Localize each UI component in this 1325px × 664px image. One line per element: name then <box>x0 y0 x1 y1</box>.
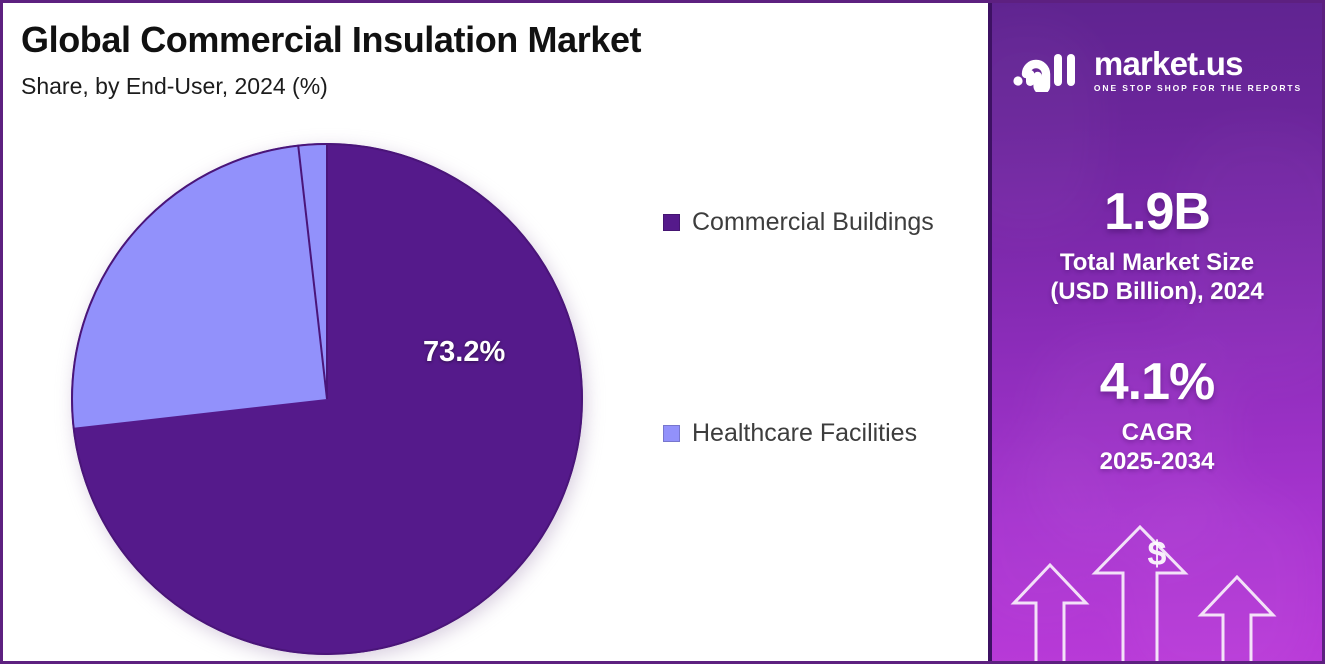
logo-tagline: ONE STOP SHOP FOR THE REPORTS <box>1094 83 1302 93</box>
infographic-root: Global Commercial Insulation Market Shar… <box>0 0 1325 664</box>
pie-data-label: 73.2% <box>423 336 505 369</box>
chart-panel: Global Commercial Insulation Market Shar… <box>3 3 988 661</box>
stat-caption-line: (USD Billion), 2024 <box>992 277 1322 306</box>
stats-panel: market.us ONE STOP SHOP FOR THE REPORTS … <box>988 3 1322 661</box>
legend-item-commercial-buildings[interactable]: Commercial Buildings <box>663 208 973 237</box>
page-title: Global Commercial Insulation Market <box>21 19 641 61</box>
chart-legend: Commercial Buildings Healthcare Faciliti… <box>663 208 973 448</box>
growth-arrows-icon <box>992 511 1322 661</box>
page-subtitle: Share, by End-User, 2024 (%) <box>21 73 328 100</box>
stat-cagr-caption: CAGR 2025-2034 <box>992 418 1322 477</box>
legend-swatch-icon <box>663 214 680 231</box>
stat-cagr-value: 4.1% <box>992 355 1322 410</box>
legend-item-label: Healthcare Facilities <box>692 419 917 448</box>
legend-item-label: Commercial Buildings <box>692 208 934 237</box>
market-us-logo-icon <box>1012 48 1084 92</box>
pie-chart: 73.2% <box>66 138 588 660</box>
growth-arrows-artwork: $ <box>992 511 1322 661</box>
logo-wordmark: market.us <box>1094 47 1243 80</box>
dollar-sign-icon: $ <box>992 535 1322 574</box>
legend-item-healthcare-facilities[interactable]: Healthcare Facilities <box>663 419 973 448</box>
stat-caption-line: Total Market Size <box>992 248 1322 277</box>
brand-logo[interactable]: market.us ONE STOP SHOP FOR THE REPORTS <box>992 47 1322 93</box>
stat-cagr: 4.1% CAGR 2025-2034 <box>992 355 1322 476</box>
stat-market-size-value: 1.9B <box>992 185 1322 240</box>
stat-caption-line: 2025-2034 <box>992 447 1322 476</box>
legend-swatch-icon <box>663 425 680 442</box>
pie-outline <box>71 143 583 655</box>
stat-caption-line: CAGR <box>992 418 1322 447</box>
stat-market-size-caption: Total Market Size (USD Billion), 2024 <box>992 248 1322 307</box>
logo-text: market.us ONE STOP SHOP FOR THE REPORTS <box>1094 47 1302 93</box>
stat-market-size: 1.9B Total Market Size (USD Billion), 20… <box>992 185 1322 306</box>
